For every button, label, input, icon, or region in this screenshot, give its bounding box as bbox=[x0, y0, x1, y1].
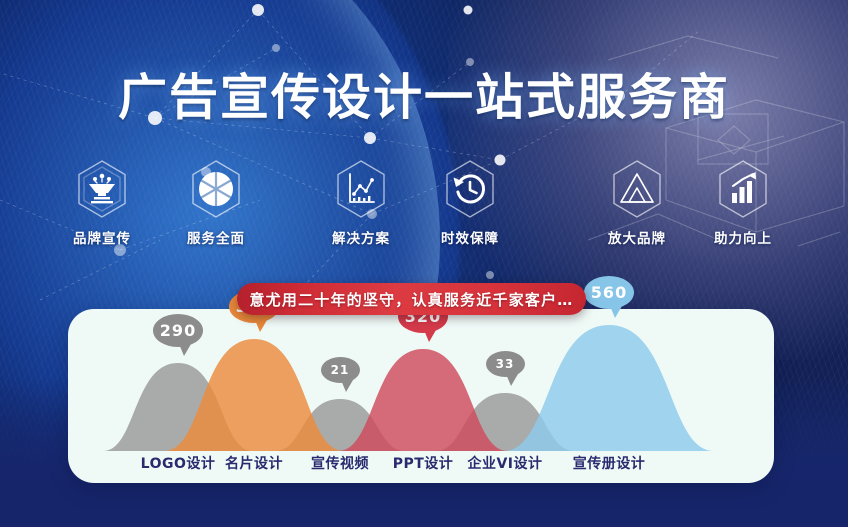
chart-analysis-icon bbox=[330, 158, 392, 220]
chart-value-bubble: 21 bbox=[321, 357, 360, 383]
chart-value-bubble-tail bbox=[255, 320, 267, 332]
chart-value-label: 560 bbox=[584, 276, 634, 309]
chart-x-label: 企业VI设计 bbox=[445, 453, 565, 473]
feature-icon-row: 品牌宣传 bbox=[0, 158, 848, 250]
background-bottom-bar bbox=[0, 481, 848, 527]
feature-label: 放大品牌 bbox=[591, 227, 683, 247]
megaphone-trophy-icon bbox=[71, 158, 133, 220]
chart-value-bubble: 290 bbox=[153, 314, 203, 347]
feature-item-timeliness[interactable]: 时效保障 bbox=[424, 158, 516, 247]
chart-value-bubble: 33 bbox=[486, 351, 525, 377]
feature-label: 助力向上 bbox=[697, 227, 789, 247]
poster-canvas: 广告宣传设计一站式服务商 品牌宣传 bbox=[0, 0, 848, 527]
aperture-icon bbox=[185, 158, 247, 220]
chart-value-label: 290 bbox=[153, 314, 203, 347]
feature-label: 时效保障 bbox=[424, 227, 516, 247]
chart-value-bubble-tail bbox=[506, 374, 518, 386]
chart-x-label: 宣传册设计 bbox=[549, 453, 669, 473]
chart-value-bubble-tail bbox=[179, 344, 191, 356]
chart-value-bubble: 560 bbox=[584, 276, 634, 309]
promo-banner: 意尤用二十年的坚守，认真服务近千家客户… bbox=[237, 283, 586, 315]
chart-value-bubble-tail bbox=[341, 380, 353, 392]
chart-value-bubble-tail bbox=[610, 306, 622, 318]
feature-label: 品牌宣传 bbox=[56, 227, 148, 247]
chart-peak bbox=[504, 325, 714, 451]
feature-label: 服务全面 bbox=[170, 227, 262, 247]
promo-banner-text: 意尤用二十年的坚守，认真服务近千家客户… bbox=[249, 289, 573, 310]
page-title: 广告宣传设计一站式服务商 bbox=[0, 58, 848, 129]
chart-value-bubble-tail bbox=[424, 330, 436, 342]
clock-history-icon bbox=[439, 158, 501, 220]
feature-item-brand-promotion[interactable]: 品牌宣传 bbox=[56, 158, 148, 247]
triangle-pyramid-icon bbox=[606, 158, 668, 220]
feature-item-solutions[interactable]: 解决方案 bbox=[315, 158, 407, 247]
feature-item-full-service[interactable]: 服务全面 bbox=[170, 158, 262, 247]
feature-item-amplify-brand[interactable]: 放大品牌 bbox=[591, 158, 683, 247]
bar-chart-arrow-icon bbox=[712, 158, 774, 220]
feature-label: 解决方案 bbox=[315, 227, 407, 247]
chart-x-axis-labels: LOGO设计名片设计宣传视频PPT设计企业VI设计宣传册设计 bbox=[68, 453, 774, 475]
chart-peak bbox=[338, 349, 508, 451]
feature-item-boost-upward[interactable]: 助力向上 bbox=[697, 158, 789, 247]
